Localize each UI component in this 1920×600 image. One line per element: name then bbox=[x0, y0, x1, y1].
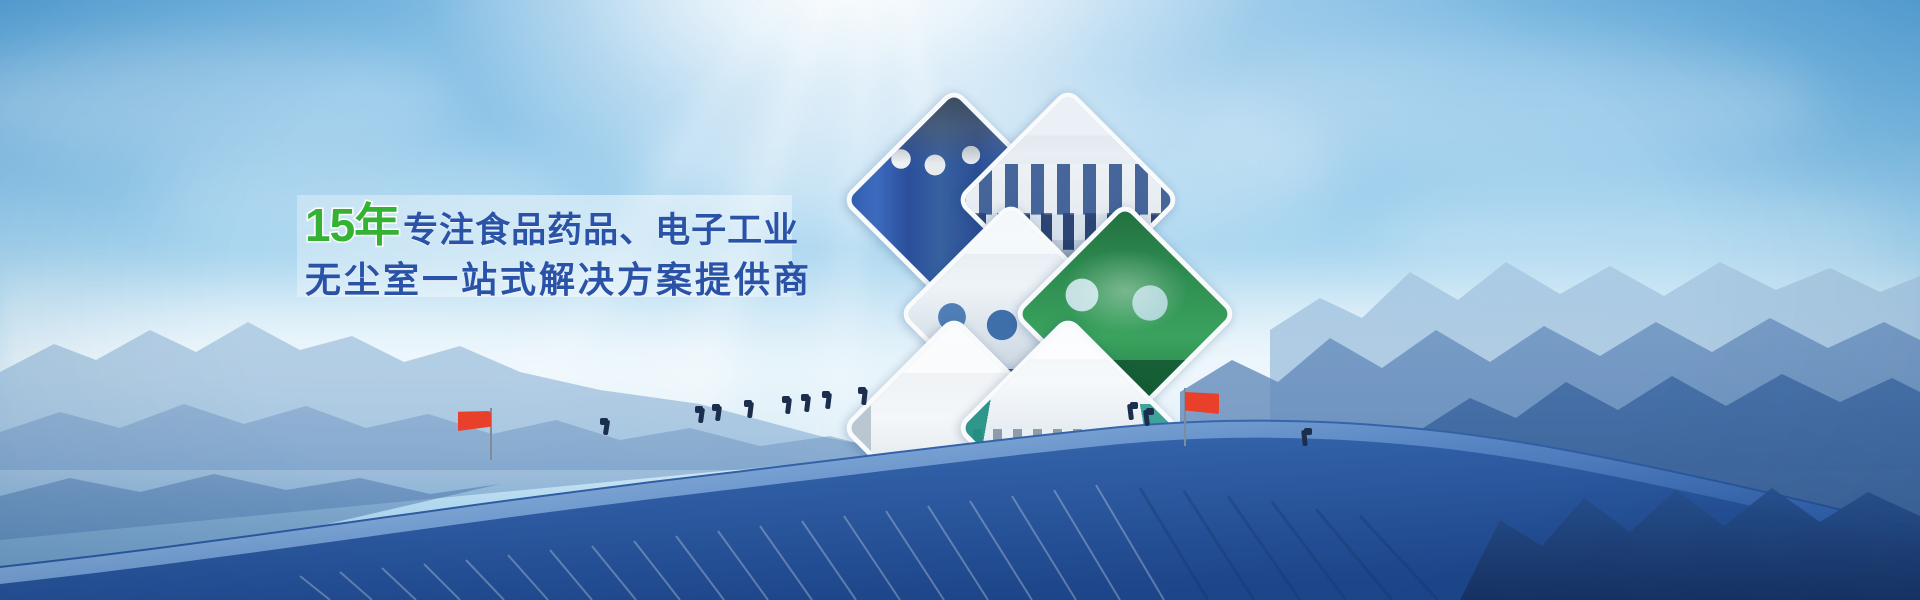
climber-pack bbox=[744, 400, 752, 407]
climber-pack bbox=[1130, 402, 1138, 409]
climber-pack bbox=[1304, 428, 1312, 435]
headline: 15年 专注食品药品、电子工业 无尘室一站式解决方案提供商 bbox=[305, 198, 805, 298]
summit-flag-left bbox=[458, 408, 502, 460]
headline-line-1-rest: 专注食品药品、电子工业 bbox=[403, 213, 799, 248]
flag-cloth bbox=[1185, 392, 1219, 414]
flag-cloth bbox=[458, 411, 491, 431]
climber-pack bbox=[822, 391, 830, 398]
climber-pack bbox=[858, 387, 866, 394]
headline-line-1: 15年 专注食品药品、电子工业 bbox=[305, 198, 805, 248]
summit-flag-right bbox=[1182, 388, 1228, 446]
headline-line-2-text: 无尘室一站式解决方案提供商 bbox=[305, 262, 812, 298]
climber-pack bbox=[712, 404, 720, 411]
foreground-ridge bbox=[0, 370, 1920, 600]
hero-banner: 15年 专注食品药品、电子工业 无尘室一站式解决方案提供商 bbox=[0, 0, 1920, 600]
years-highlight: 15年 bbox=[305, 202, 399, 248]
climber-pack bbox=[801, 394, 809, 401]
climber-pack bbox=[600, 418, 608, 425]
climber-pack bbox=[695, 406, 703, 413]
climber-pack bbox=[782, 396, 790, 403]
climber-pack bbox=[1146, 408, 1154, 415]
headline-line-2: 无尘室一站式解决方案提供商 bbox=[305, 250, 805, 298]
